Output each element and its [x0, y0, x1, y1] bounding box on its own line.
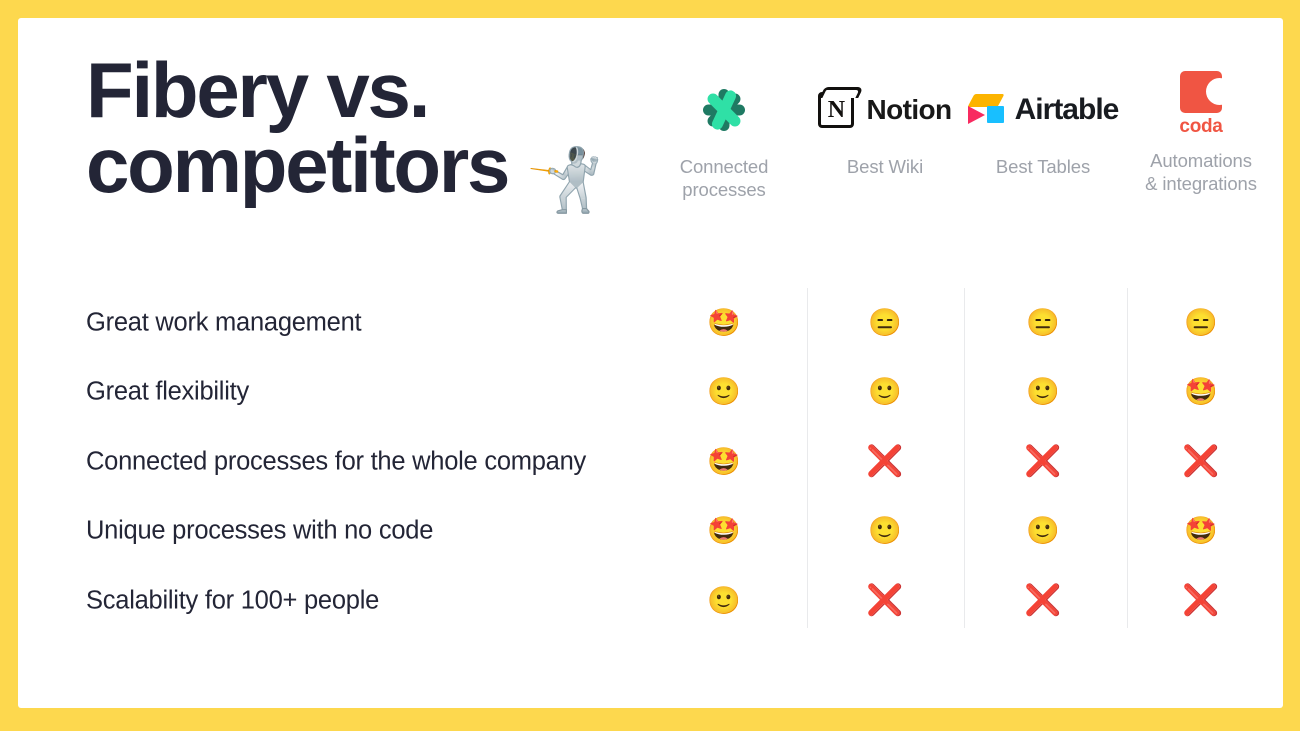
cell-airtable: 🙂	[964, 518, 1122, 545]
fencer-emoji: 🤺	[526, 150, 603, 212]
cell-fibery: 🤩	[645, 448, 803, 475]
row-label: Connected processes for the whole compan…	[86, 447, 586, 476]
slide-card: Fibery vs. competitors 🤺 Connected proce…	[18, 18, 1283, 708]
airtable-mark-icon	[968, 94, 1006, 126]
column-header-fibery: Connected processes	[645, 76, 803, 202]
cell-airtable: ❌	[964, 447, 1122, 477]
column-subtitle-airtable: Best Tables	[964, 156, 1122, 179]
airtable-pink-shape	[968, 106, 985, 124]
column-header-coda: coda Automations & integrations	[1122, 70, 1280, 196]
row-label: Great work management	[86, 308, 361, 337]
column-header-notion: N Notion Best Wiki	[806, 76, 964, 179]
coda-mark-icon	[1180, 71, 1222, 113]
column-subtitle-fibery: Connected processes	[645, 156, 803, 202]
coda-wordmark: coda	[1179, 116, 1222, 138]
cell-fibery: 🙂	[645, 379, 803, 406]
table-row: Unique processes with no code 🤩 🙂 🙂 🤩	[18, 497, 1283, 567]
cell-airtable: 🙂	[964, 379, 1122, 406]
airtable-logo: Airtable	[964, 76, 1122, 144]
fibery-logo	[645, 76, 803, 144]
cell-coda: ❌	[1122, 447, 1280, 477]
cell-coda: 🤩	[1122, 518, 1280, 545]
cell-coda: 🤩	[1122, 379, 1280, 406]
table-row: Connected processes for the whole compan…	[18, 427, 1283, 497]
table-row: Great work management 🤩 😑 😑 😑	[18, 288, 1283, 358]
coda-logo: coda	[1122, 70, 1280, 138]
row-label: Great flexibility	[86, 378, 249, 407]
cell-fibery: 🤩	[645, 518, 803, 545]
cell-coda: 😑	[1122, 309, 1280, 336]
notion-letter-n: N	[828, 98, 845, 122]
cell-notion: ❌	[806, 447, 964, 477]
cell-airtable: 😑	[964, 309, 1122, 336]
notion-wordmark: Notion	[866, 94, 951, 126]
cell-airtable: ❌	[964, 586, 1122, 616]
row-label: Scalability for 100+ people	[86, 586, 379, 615]
notion-cube-icon: N	[818, 92, 854, 128]
cell-notion: ❌	[806, 586, 964, 616]
column-subtitle-notion: Best Wiki	[806, 156, 964, 179]
airtable-wordmark: Airtable	[1015, 93, 1119, 127]
cell-coda: ❌	[1122, 586, 1280, 616]
cell-fibery: 🤩	[645, 309, 803, 336]
cell-notion: 🙂	[806, 518, 964, 545]
notion-logo: N Notion	[806, 76, 964, 144]
cell-notion: 😑	[806, 309, 964, 336]
slide-frame: Fibery vs. competitors 🤺 Connected proce…	[0, 0, 1300, 731]
cell-notion: 🙂	[806, 379, 964, 406]
slide-header: Fibery vs. competitors 🤺 Connected proce…	[18, 18, 1283, 268]
row-label: Unique processes with no code	[86, 517, 433, 546]
column-subtitle-coda: Automations & integrations	[1122, 150, 1280, 196]
airtable-blue-shape	[987, 106, 1004, 123]
comparison-table: Great work management 🤩 😑 😑 😑 Great flex…	[18, 288, 1283, 636]
table-row: Scalability for 100+ people 🙂 ❌ ❌ ❌	[18, 566, 1283, 636]
cell-fibery: 🙂	[645, 587, 803, 614]
column-header-airtable: Airtable Best Tables	[964, 76, 1122, 179]
table-row: Great flexibility 🙂 🙂 🙂 🤩	[18, 358, 1283, 428]
